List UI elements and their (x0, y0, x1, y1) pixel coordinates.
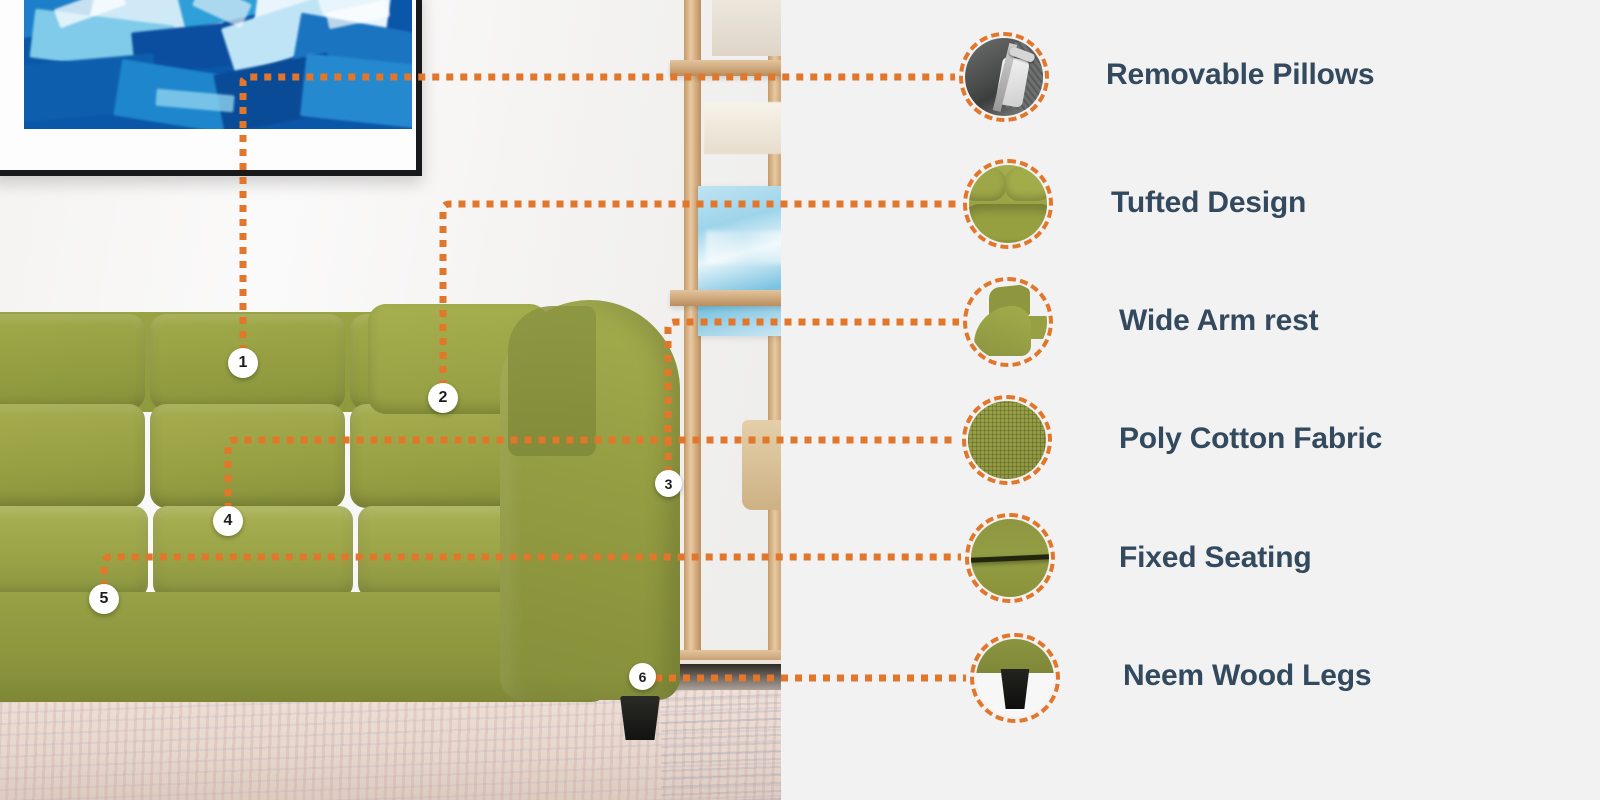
woven-basket (742, 420, 781, 510)
arm-rest-icon (969, 283, 1047, 361)
marker-number: 4 (224, 512, 233, 530)
back-cushion (0, 314, 145, 410)
shelf-object (704, 102, 781, 154)
feature-label-wide-arm-rest: Wide Arm rest (1119, 304, 1318, 338)
marker-6: 6 (629, 663, 656, 690)
feature-icon-wide-arm-rest[interactable] (963, 277, 1053, 367)
seat-cushion (153, 506, 353, 598)
marker-number: 1 (239, 354, 248, 372)
marker-4: 4 (213, 506, 243, 536)
marker-3: 3 (655, 470, 682, 497)
back-cushion-lower (0, 404, 145, 508)
pillow-zipper-icon (965, 38, 1043, 116)
feature-icon-poly-cotton-fabric[interactable] (962, 395, 1052, 485)
feature-icon-tufted-design[interactable] (963, 159, 1053, 249)
feature-icon-neem-wood-legs[interactable] (970, 633, 1060, 723)
sofa-arm-inner (508, 306, 596, 456)
product-photo (0, 0, 781, 800)
feature-label-neem-wood-legs: Neem Wood Legs (1123, 659, 1371, 693)
wall-art-painting (24, 0, 412, 129)
wall-art-frame (0, 0, 422, 176)
sofa-wood-leg (620, 696, 660, 740)
marker-number: 3 (665, 476, 673, 492)
feature-label-poly-cotton-fabric: Poly Cotton Fabric (1119, 422, 1382, 456)
marker-number: 6 (639, 669, 647, 685)
feature-label-fixed-seating: Fixed Seating (1119, 541, 1311, 575)
sofa (0, 300, 720, 720)
back-cushion-lower (150, 404, 345, 508)
fabric-swatch-icon (968, 401, 1046, 479)
feature-icon-fixed-seating[interactable] (965, 513, 1055, 603)
tufted-cushion-icon (969, 165, 1047, 243)
marker-number: 2 (439, 389, 448, 407)
seat-cushion (0, 506, 148, 598)
marker-5: 5 (89, 584, 119, 614)
feature-label-removable-pillows: Removable Pillows (1106, 58, 1374, 92)
infographic-stage: 1 2 3 4 5 6 Removable Pillows Tufted Des… (0, 0, 1600, 800)
fixed-seat-icon (971, 519, 1049, 597)
feature-icon-removable-pillows[interactable] (959, 32, 1049, 122)
shelf-book (712, 0, 781, 56)
feature-label-tufted-design: Tufted Design (1111, 186, 1306, 220)
wood-leg-icon (976, 639, 1054, 717)
marker-1: 1 (228, 348, 258, 378)
marker-2: 2 (428, 383, 458, 413)
marker-number: 5 (100, 590, 109, 608)
